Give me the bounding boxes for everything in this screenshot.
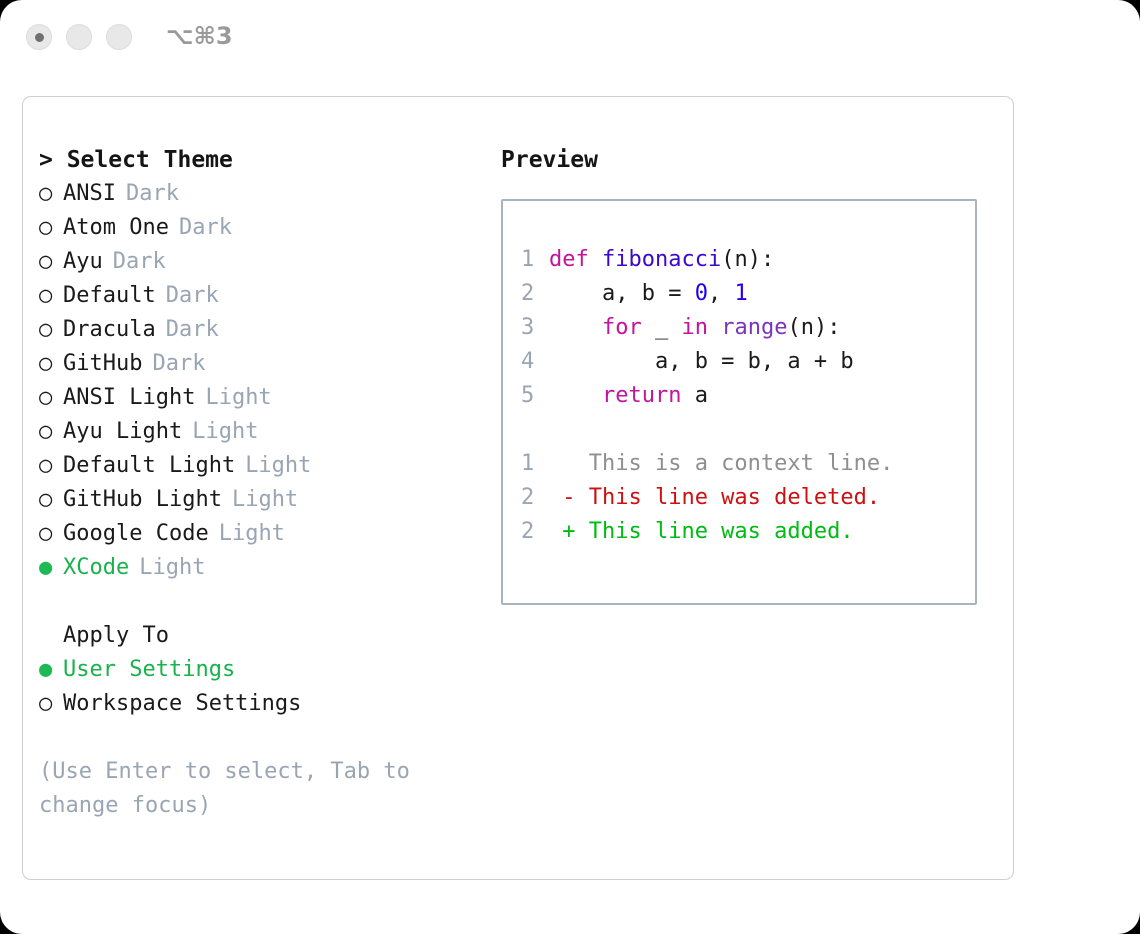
theme-list[interactable]: ○ANSIDark○Atom OneDark○AyuDark○DefaultDa… xyxy=(39,177,489,585)
line-number: 2 xyxy=(521,515,549,549)
code-line-4: 5 return a xyxy=(521,379,967,413)
code-line-0: 1def fibonacci(n): xyxy=(521,243,967,277)
item-label: Ayu Light xyxy=(63,415,182,449)
token: a, b = xyxy=(549,281,695,306)
code-preview: 1def fibonacci(n):2 a, b = 0, 13 for _ i… xyxy=(521,243,967,549)
title-bar: ⌥⌘3 xyxy=(0,0,1140,78)
theme-selector-column: > Select Theme ○ANSIDark○Atom OneDark○Ay… xyxy=(39,143,489,823)
item-label: User Settings xyxy=(63,653,235,687)
radio-unselected-icon: ○ xyxy=(39,245,63,279)
preview-column: Preview 1def fibonacci(n):2 a, b = 0, 13… xyxy=(501,143,1001,605)
token: fibonacci xyxy=(602,247,721,272)
theme-item-4[interactable]: ○DraculaDark xyxy=(39,313,489,347)
radio-unselected-icon: ○ xyxy=(39,415,63,449)
theme-item-7[interactable]: ○Ayu LightLight xyxy=(39,415,489,449)
line-number: 1 xyxy=(521,243,549,277)
token: (n): xyxy=(787,315,840,340)
token: return xyxy=(602,383,681,408)
window-dot-3-icon[interactable] xyxy=(106,24,132,50)
item-label: Atom One xyxy=(63,211,169,245)
apply-to-header: Apply To xyxy=(39,619,489,653)
line-number: 1 xyxy=(521,447,549,481)
line-content: for _ in range(n): xyxy=(549,311,840,345)
token: def xyxy=(549,247,589,272)
radio-unselected-icon: ○ xyxy=(39,279,63,313)
code-line-2: 3 for _ in range(n): xyxy=(521,311,967,345)
line-content: a, b = b, a + b xyxy=(549,345,854,379)
radio-unselected-icon: ○ xyxy=(39,449,63,483)
item-type-tag: Dark xyxy=(166,313,219,347)
item-label: Ayu xyxy=(63,245,103,279)
preview-panel: 1def fibonacci(n):2 a, b = 0, 13 for _ i… xyxy=(501,199,977,605)
item-type-tag: Light xyxy=(232,483,298,517)
token: , xyxy=(708,281,735,306)
item-type-tag: Light xyxy=(139,551,205,585)
theme-item-6[interactable]: ○ANSI LightLight xyxy=(39,381,489,415)
token: in xyxy=(681,315,708,340)
item-label: Workspace Settings xyxy=(63,687,301,721)
token: range xyxy=(721,315,787,340)
keyboard-hint: (Use Enter to select, Tab to change focu… xyxy=(39,755,449,823)
diff-line-2: 2 + This line was added. xyxy=(521,515,967,549)
line-number: 2 xyxy=(521,277,549,311)
radio-selected-icon: ● xyxy=(39,551,63,585)
preview-title: Preview xyxy=(501,143,1001,177)
theme-item-10[interactable]: ○Google CodeLight xyxy=(39,517,489,551)
item-label: XCode xyxy=(63,551,129,585)
line-content: This is a context line. xyxy=(549,447,893,481)
theme-item-8[interactable]: ○Default LightLight xyxy=(39,449,489,483)
token: 1 xyxy=(734,281,747,306)
line-number: 4 xyxy=(521,345,549,379)
item-label: Google Code xyxy=(63,517,209,551)
theme-item-0[interactable]: ○ANSIDark xyxy=(39,177,489,211)
theme-item-11[interactable]: ●XCodeLight xyxy=(39,551,489,585)
apply-item-1[interactable]: ○Workspace Settings xyxy=(39,687,489,721)
apply-to-list[interactable]: ●User Settings○Workspace Settings xyxy=(39,653,489,721)
item-type-tag: Dark xyxy=(126,177,179,211)
main-card: > Select Theme ○ANSIDark○Atom OneDark○Ay… xyxy=(22,96,1014,880)
apply-item-0[interactable]: ●User Settings xyxy=(39,653,489,687)
token: (n): xyxy=(721,247,774,272)
theme-item-3[interactable]: ○DefaultDark xyxy=(39,279,489,313)
window-dot-2-icon[interactable] xyxy=(66,24,92,50)
line-content: return a xyxy=(549,379,708,413)
item-type-tag: Light xyxy=(192,415,258,449)
item-type-tag: Dark xyxy=(166,279,219,313)
radio-selected-icon: ● xyxy=(39,653,63,687)
item-type-tag: Dark xyxy=(152,347,205,381)
token: _ xyxy=(642,315,682,340)
item-type-tag: Light xyxy=(219,517,285,551)
line-content: - This line was deleted. xyxy=(549,481,880,515)
radio-unselected-icon: ○ xyxy=(39,347,63,381)
radio-unselected-icon: ○ xyxy=(39,517,63,551)
code-line-1: 2 a, b = 0, 1 xyxy=(521,277,967,311)
window-dot-active-icon[interactable] xyxy=(26,24,52,50)
radio-unselected-icon: ○ xyxy=(39,313,63,347)
radio-unselected-icon: ○ xyxy=(39,687,63,721)
code-blank-line xyxy=(521,413,967,447)
token xyxy=(708,315,721,340)
window-dot-active-center-icon xyxy=(35,33,44,42)
token xyxy=(589,247,602,272)
theme-item-9[interactable]: ○GitHub LightLight xyxy=(39,483,489,517)
item-label: ANSI Light xyxy=(63,381,195,415)
token xyxy=(549,315,602,340)
token: + This line was added. xyxy=(549,519,854,544)
token: a xyxy=(681,383,708,408)
item-label: Default xyxy=(63,279,156,313)
token: 0 xyxy=(695,281,708,306)
line-number: 3 xyxy=(521,311,549,345)
spacer-2 xyxy=(39,721,489,755)
line-content: + This line was added. xyxy=(549,515,854,549)
token: This is a context line. xyxy=(549,451,893,476)
line-number: 5 xyxy=(521,379,549,413)
theme-item-5[interactable]: ○GitHubDark xyxy=(39,347,489,381)
item-label: Dracula xyxy=(63,313,156,347)
spacer xyxy=(39,585,489,619)
theme-item-1[interactable]: ○Atom OneDark xyxy=(39,211,489,245)
item-label: ANSI xyxy=(63,177,116,211)
item-label: Default Light xyxy=(63,449,235,483)
select-theme-header: > Select Theme xyxy=(39,143,489,177)
line-number: 2 xyxy=(521,481,549,515)
radio-unselected-icon: ○ xyxy=(39,211,63,245)
token: - This line was deleted. xyxy=(549,485,880,510)
theme-item-2[interactable]: ○AyuDark xyxy=(39,245,489,279)
token: a, b = b, a + b xyxy=(549,349,854,374)
keyboard-shortcut-label: ⌥⌘3 xyxy=(166,22,233,50)
token: for xyxy=(602,315,642,340)
radio-unselected-icon: ○ xyxy=(39,381,63,415)
window-controls xyxy=(26,24,132,50)
token xyxy=(549,383,602,408)
diff-line-1: 2 - This line was deleted. xyxy=(521,481,967,515)
item-label: GitHub xyxy=(63,347,142,381)
line-content: def fibonacci(n): xyxy=(549,243,774,277)
line-content: a, b = 0, 1 xyxy=(549,277,748,311)
item-type-tag: Dark xyxy=(179,211,232,245)
radio-unselected-icon: ○ xyxy=(39,177,63,211)
radio-unselected-icon: ○ xyxy=(39,483,63,517)
diff-line-0: 1 This is a context line. xyxy=(521,447,967,481)
item-label: GitHub Light xyxy=(63,483,222,517)
code-line-3: 4 a, b = b, a + b xyxy=(521,345,967,379)
app-window: ⌥⌘3 > Select Theme ○ANSIDark○Atom OneDar… xyxy=(0,0,1140,934)
item-type-tag: Light xyxy=(205,381,271,415)
item-type-tag: Dark xyxy=(113,245,166,279)
item-type-tag: Light xyxy=(245,449,311,483)
